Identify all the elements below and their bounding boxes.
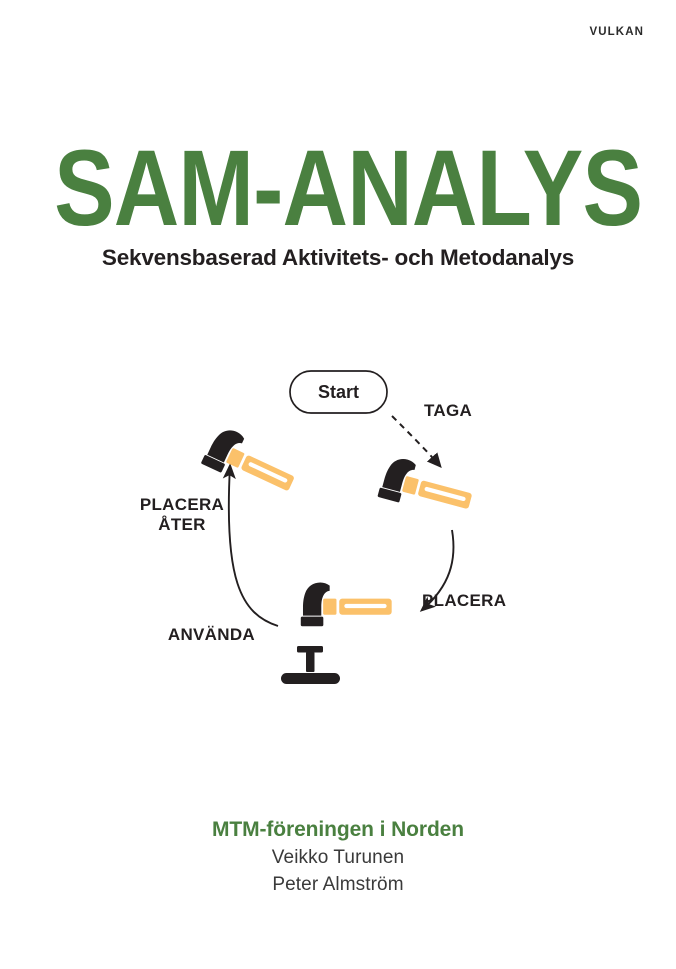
book-cover: VULKAN SAM-ANALYS Sekvensbaserad Aktivit…	[0, 0, 676, 969]
publisher-logo: VULKAN	[589, 26, 644, 38]
organisation-name: MTM-föreningen i Norden	[0, 818, 676, 842]
page-title: SAM-ANALYS	[54, 138, 622, 237]
nail-icon	[297, 646, 323, 672]
page-subtitle: Sekvensbaserad Aktivitets- och Metodanal…	[0, 245, 676, 271]
arrow-placera-ater	[229, 466, 278, 626]
start-node[interactable]: Start	[290, 371, 387, 413]
hammer-icon-bottom	[301, 583, 392, 627]
label-taga: TAGA	[424, 401, 472, 420]
label-placera: PLACERA	[422, 591, 506, 610]
title-block: SAM-ANALYS Sekvensbaserad Aktivitets- oc…	[0, 138, 676, 271]
footer-block: MTM-föreningen i Norden Veikko Turunen P…	[0, 818, 676, 896]
workpiece-icon	[281, 673, 340, 684]
label-anvanda: ANVÄNDA	[168, 625, 255, 644]
label-placera-ater-line1: PLACERA	[140, 495, 224, 514]
hammer-icon-top-left	[201, 424, 302, 502]
arrow-taga	[392, 416, 440, 466]
author-name-1: Veikko Turunen	[0, 847, 676, 869]
label-placera-ater-line2: ÅTER	[158, 515, 205, 534]
cycle-diagram: Start TAGA PLACERA ANVÄNDA	[0, 338, 676, 710]
author-name-2: Peter Almström	[0, 874, 676, 896]
hammer-icon-right	[377, 455, 476, 521]
start-node-label: Start	[318, 382, 359, 402]
